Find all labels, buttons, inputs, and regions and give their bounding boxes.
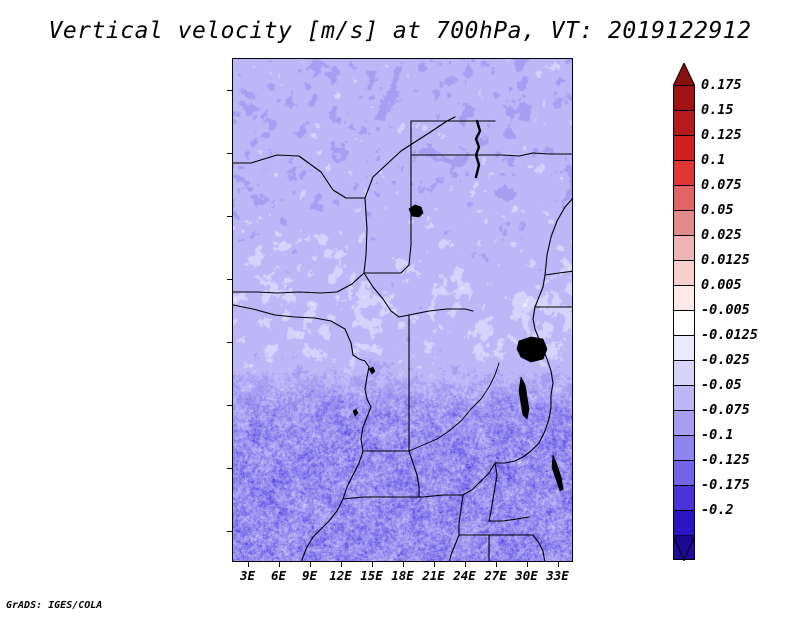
x-tick-mark [465,562,466,567]
colorbar-band: 0.005 [673,285,695,310]
colorbar-tick-label: -0.125 [701,452,750,468]
x-tick-mark [310,562,311,567]
y-tick-mark [227,531,232,532]
colorbar[interactable]: 0.1750.150.1250.10.0750.050.0250.01250.0… [673,85,695,560]
colorbar-arrow-min-icon [673,535,695,561]
colorbar-tick-label: 0.0125 [701,252,750,268]
colorbar-tick-label: -0.075 [701,402,750,418]
x-tick-mark [558,562,559,567]
colorbar-tick-label: -0.175 [701,477,750,493]
colorbar-band: -0.175 [673,485,695,510]
x-tick-mark [527,562,528,567]
x-tick-label: 27E [484,568,507,583]
colorbar-tick-label: 0.175 [701,77,742,93]
colorbar-band: -0.125 [673,460,695,485]
x-tick-label: 6E [271,568,286,583]
x-tick-label: 18E [391,568,414,583]
colorbar-tick-label: 0.125 [701,127,742,143]
x-tick-label: 15E [360,568,383,583]
colorbar-band: 0.0125 [673,260,695,285]
y-tick-mark [227,279,232,280]
colorbar-band: -0.075 [673,410,695,435]
x-tick-mark [403,562,404,567]
colorbar-band: 0.1 [673,160,695,185]
colorbar-band: -0.05 [673,385,695,410]
x-tick-label: 9E [302,568,317,583]
colorbar-tick-label: -0.2 [701,502,734,518]
x-tick-mark [248,562,249,567]
colorbar-tick-label: 0.15 [701,102,734,118]
colorbar-tick-label: -0.025 [701,352,750,368]
y-tick-mark [227,342,232,343]
page-title: Vertical velocity [m/s] at 700hPa, VT: 2… [0,18,800,44]
colorbar-tick-label: 0.1 [701,152,725,168]
y-tick-mark [227,468,232,469]
colorbar-band: 0.025 [673,235,695,260]
software-credit: GrADS: IGES/COLA [6,600,102,611]
y-tick-mark [227,405,232,406]
x-tick-label: 24E [453,568,476,583]
colorbar-tick-label: 0.025 [701,227,742,243]
colorbar-tick-label: -0.05 [701,377,742,393]
colorbar-band: -0.025 [673,360,695,385]
x-tick-mark [434,562,435,567]
colorbar-band: 0.05 [673,210,695,235]
colorbar-band: -0.0125 [673,335,695,360]
x-tick-label: 12E [329,568,352,583]
colorbar-tick-label: 0.075 [701,177,742,193]
x-tick-label: 30E [515,568,538,583]
y-tick-mark [227,216,232,217]
x-tick-label: 21E [422,568,445,583]
x-tick-mark [341,562,342,567]
colorbar-band: 0.175 [673,85,695,110]
colorbar-band: -0.005 [673,310,695,335]
x-tick-label: 33E [546,568,569,583]
y-tick-mark [227,153,232,154]
x-tick-label: 3E [240,568,255,583]
colorbar-band: 0.15 [673,110,695,135]
colorbar-tick-label: 0.05 [701,202,734,218]
colorbar-tick-label: -0.0125 [701,327,758,343]
country-borders-overlay [233,59,573,562]
x-tick-mark [372,562,373,567]
map-plot-area [232,58,573,562]
y-tick-mark [227,90,232,91]
colorbar-tick-label: 0.005 [701,277,742,293]
x-tick-mark [279,562,280,567]
x-tick-mark [496,562,497,567]
colorbar-tick-label: -0.005 [701,302,750,318]
colorbar-band: -0.2 [673,510,695,535]
colorbar-band: 0.075 [673,185,695,210]
colorbar-arrow-max-icon [673,63,695,86]
colorbar-band: -0.1 [673,435,695,460]
colorbar-tick-label: -0.1 [701,427,734,443]
colorbar-band: 0.125 [673,135,695,160]
